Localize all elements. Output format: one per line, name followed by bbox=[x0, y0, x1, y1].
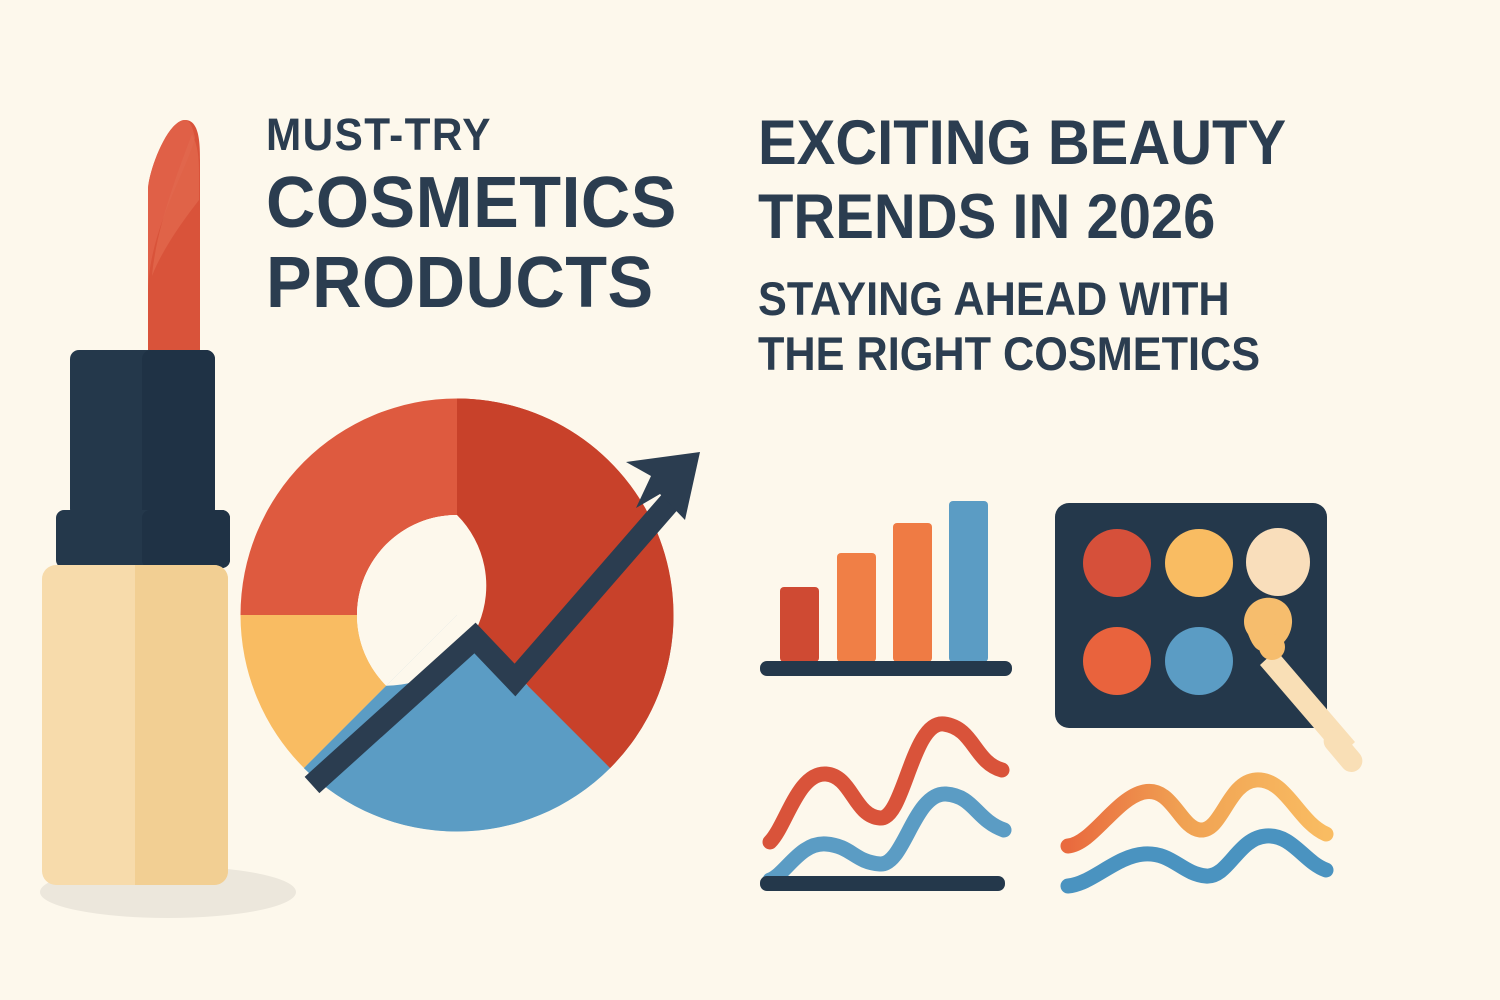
bar-4 bbox=[949, 501, 988, 662]
left-headline-line1: MUST-TRY bbox=[266, 112, 680, 157]
right-headline: EXCITING BEAUTY TRENDS IN 2026 STAYING A… bbox=[758, 112, 1328, 385]
lipstick-collar-flange-shade bbox=[142, 510, 230, 568]
wave-lines-icon bbox=[1060, 760, 1360, 900]
wave-blue bbox=[1068, 836, 1326, 886]
brush-ferrule bbox=[1259, 634, 1285, 660]
line-chart-baseline bbox=[760, 876, 1005, 891]
infographic-poster: MUST-TRY COSMETICS PRODUCTS EXCITING BEA… bbox=[0, 0, 1500, 1000]
bar-3 bbox=[893, 523, 932, 662]
line-series-red bbox=[770, 724, 1002, 842]
right-headline-sub1: STAYING AHEAD WITH bbox=[758, 275, 1282, 322]
right-headline-line1: EXCITING BEAUTY bbox=[758, 112, 1282, 175]
palette-pan-orange bbox=[1083, 627, 1151, 695]
right-headline-sub2: THE RIGHT COSMETICS bbox=[758, 330, 1282, 377]
left-headline-line2: COSMETICS bbox=[266, 167, 684, 239]
palette-pan-red bbox=[1083, 529, 1151, 597]
donut-chart-icon bbox=[230, 370, 710, 860]
palette-pan-blue bbox=[1165, 627, 1233, 695]
bar-chart-baseline bbox=[760, 661, 1012, 676]
lipstick-collar-shade bbox=[142, 350, 215, 518]
bar-2 bbox=[837, 553, 876, 662]
bar-1 bbox=[780, 587, 819, 662]
right-headline-line2: TRENDS IN 2026 bbox=[758, 186, 1282, 249]
palette-pan-cream bbox=[1246, 528, 1310, 596]
palette-pan-amber bbox=[1165, 529, 1233, 597]
lipstick-body-shade bbox=[135, 565, 228, 885]
bar-chart-icon bbox=[752, 484, 1022, 684]
left-headline-line3: PRODUCTS bbox=[266, 247, 684, 319]
line-chart-icon bbox=[752, 700, 1032, 900]
eyeshadow-palette-icon bbox=[1050, 495, 1380, 775]
left-headline: MUST-TRY COSMETICS PRODUCTS bbox=[266, 112, 706, 327]
